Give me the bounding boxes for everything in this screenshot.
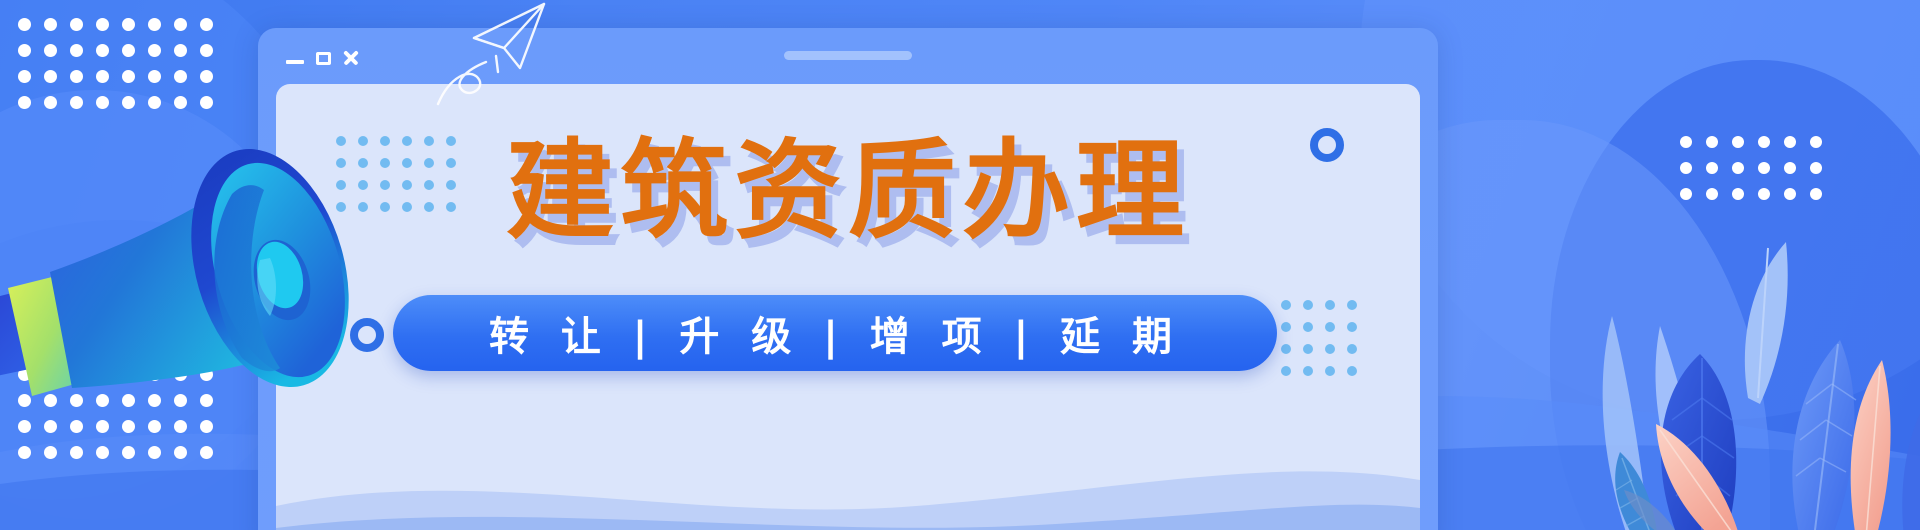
- megaphone-icon: [0, 120, 360, 410]
- cta-button[interactable]: 转 让 | 升 级 | 增 项 | 延 期: [393, 295, 1277, 371]
- foliage-icon: [1500, 208, 1920, 530]
- cta-button-label: 转 让 | 升 级 | 增 项 | 延 期: [489, 304, 1181, 362]
- window-body-wave: [276, 428, 1420, 530]
- promo-banner: 建筑资质办理 转 让 | 升 级 | 增 项 | 延 期: [0, 0, 1920, 530]
- page-title: 建筑资质办理: [258, 134, 1438, 251]
- window-tab[interactable]: [784, 51, 912, 60]
- window-controls: [286, 50, 359, 66]
- dot-grid-top-right: [1680, 136, 1836, 214]
- maximize-icon[interactable]: [316, 52, 331, 65]
- close-icon[interactable]: [343, 50, 359, 66]
- dot-grid-top-left: [18, 18, 226, 122]
- paper-plane-icon: [432, 0, 582, 106]
- minimize-icon[interactable]: [286, 60, 304, 64]
